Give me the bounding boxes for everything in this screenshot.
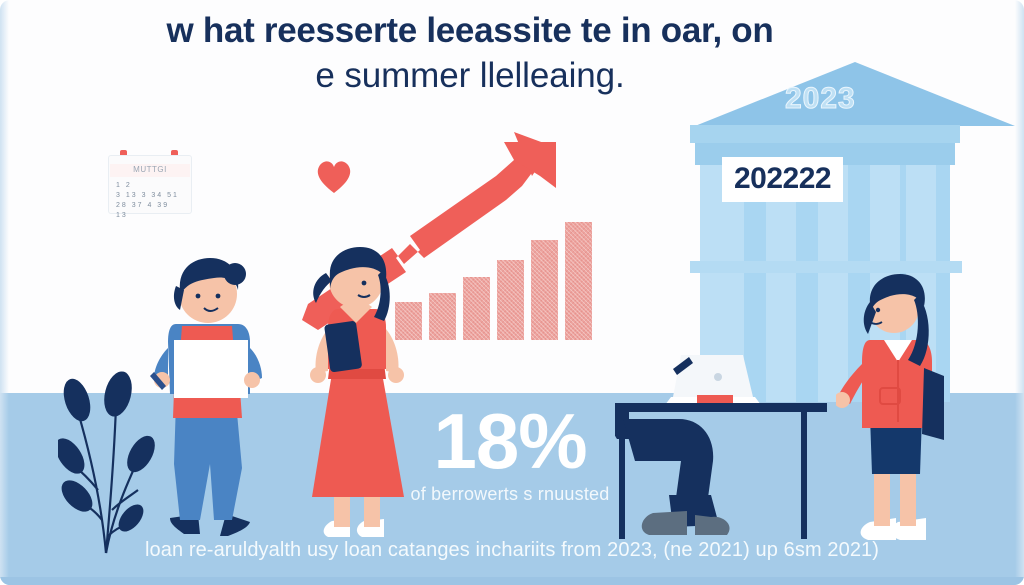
briefcase-icon bbox=[922, 368, 944, 440]
calendar-row: 28 37 4 39 13 bbox=[116, 201, 184, 221]
headline-line-2: e summer llelleaing. bbox=[120, 55, 820, 96]
headline-line-1: w hat reesserte leeassite te in oar, on bbox=[120, 10, 820, 51]
bar-2 bbox=[429, 293, 456, 340]
footer-caption: loan re-aruldyalth usy loan catanges inc… bbox=[0, 539, 1024, 562]
bank-cornice bbox=[690, 125, 960, 143]
desk-surface bbox=[615, 403, 827, 412]
bar-series bbox=[395, 222, 592, 340]
calendar-row: 3 13 3 34 51 bbox=[116, 191, 184, 201]
person-at-desk bbox=[615, 345, 830, 545]
bar-6 bbox=[565, 222, 592, 340]
edge-vignette-bottom bbox=[0, 577, 1024, 585]
statistic-value: 18% bbox=[395, 404, 625, 478]
bar-4 bbox=[497, 260, 524, 340]
shoe bbox=[695, 515, 730, 535]
bank-plate-year: 202222 bbox=[734, 162, 831, 195]
bank-year-plate: 202222 bbox=[722, 157, 843, 202]
calendar-row: 1 2 bbox=[116, 181, 184, 191]
calendar-icon: MUTTGI 1 2 3 13 3 34 51 28 37 4 39 13 bbox=[108, 148, 190, 212]
statistic-subtitle: of berrowerts s rnuusted bbox=[395, 484, 625, 505]
bank-advisor bbox=[836, 272, 961, 547]
bar-3 bbox=[463, 277, 490, 340]
infographic-canvas: 2023 202222 w hat reesserte leeassite te… bbox=[0, 0, 1024, 585]
shoe bbox=[642, 511, 687, 535]
person-reading-document bbox=[140, 252, 275, 542]
calendar-month-label: MUTTGI bbox=[109, 165, 191, 174]
edge-vignette-right bbox=[1015, 0, 1024, 585]
bar-5 bbox=[531, 240, 558, 340]
edge-vignette-left bbox=[0, 0, 9, 585]
growth-bar-chart bbox=[395, 140, 610, 340]
key-statistic: 18% of berrowerts s rnuusted bbox=[395, 404, 625, 505]
headline: w hat reesserte leeassite te in oar, on … bbox=[120, 10, 820, 97]
smartphone-icon bbox=[324, 321, 362, 373]
